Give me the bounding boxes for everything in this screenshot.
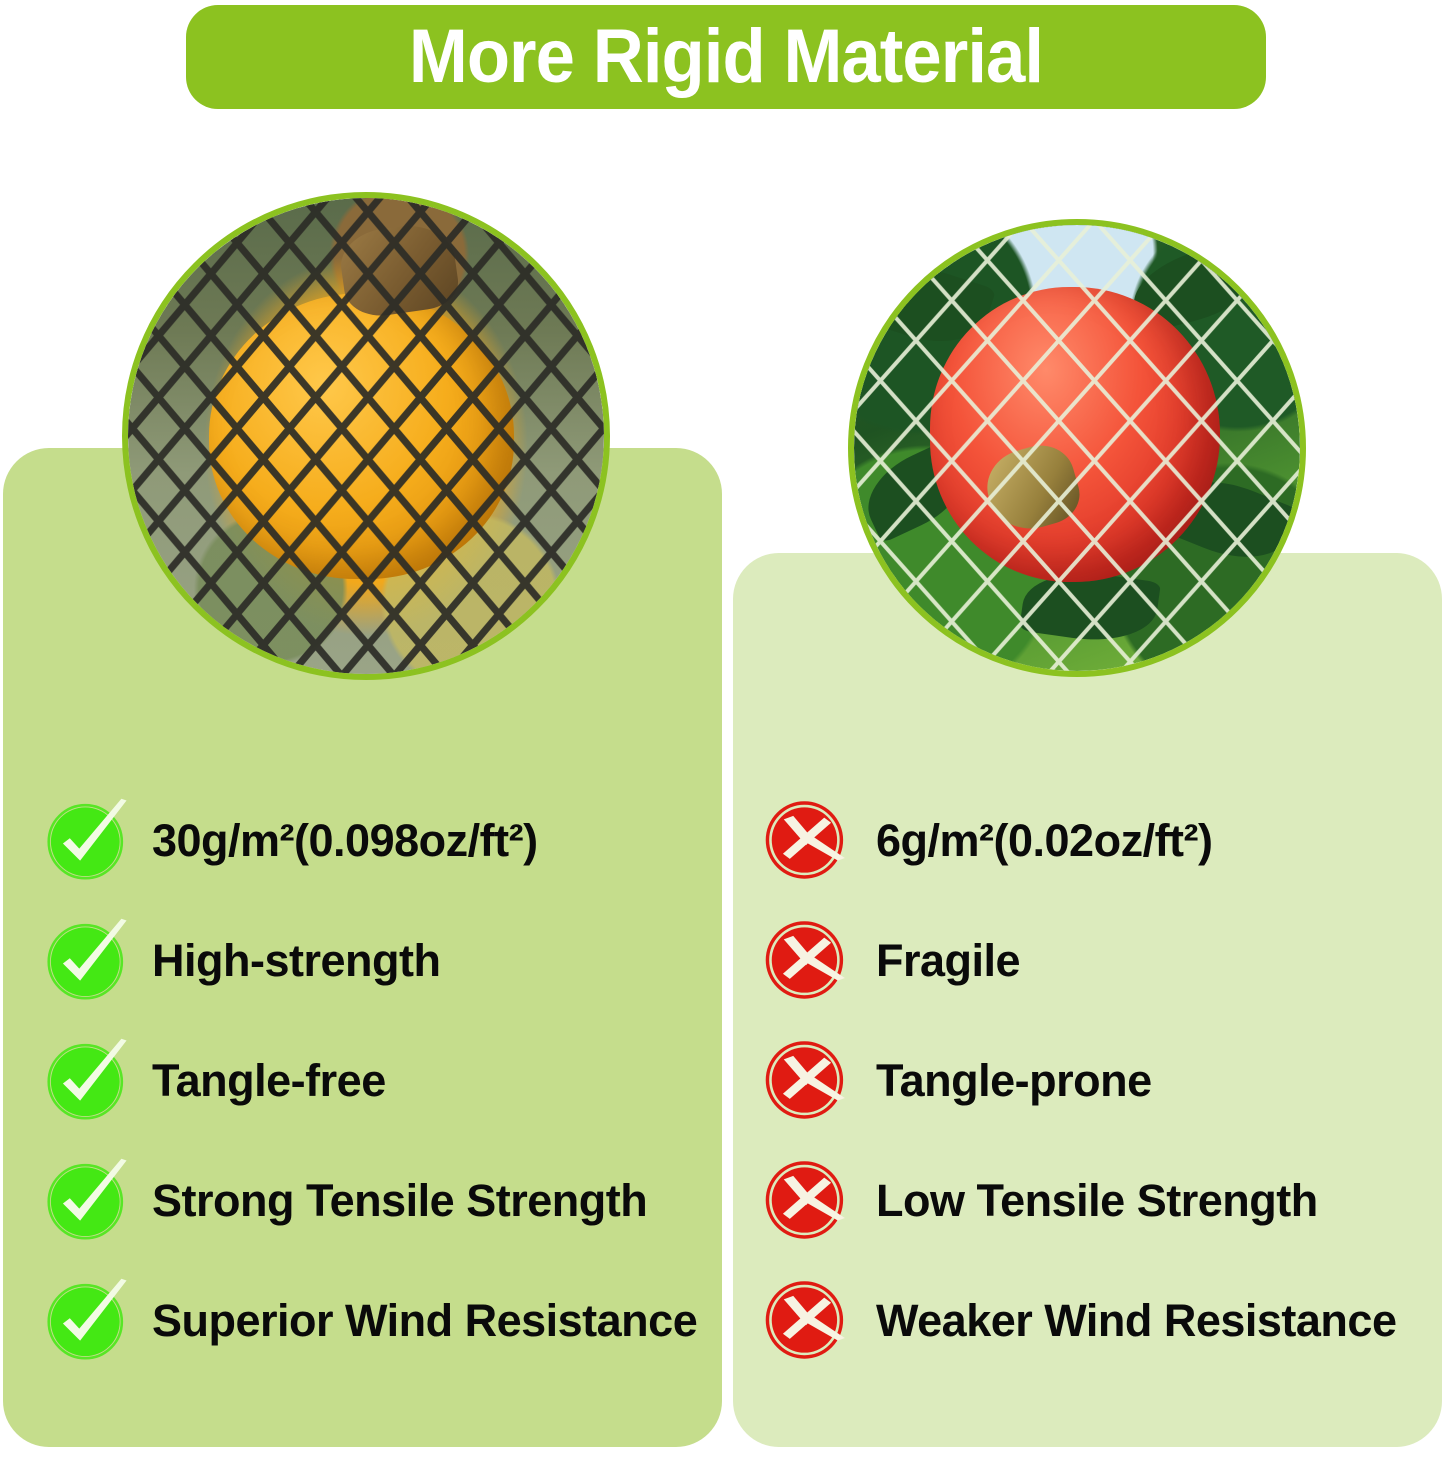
list-item-label: Tangle-free — [152, 1058, 386, 1103]
list-item: Superior Wind Resistance — [44, 1260, 697, 1380]
cross-circle-icon — [764, 1157, 850, 1243]
list-item-label: Tangle-prone — [876, 1058, 1152, 1103]
list-item-label: Low Tensile Strength — [876, 1178, 1318, 1223]
feature-list-flimsy: 6g/m²(0.02oz/ft²) Fragile Tangle-prone — [764, 780, 1396, 1380]
list-item: Tangle-prone — [764, 1020, 1396, 1140]
photo-right-inner — [854, 225, 1300, 671]
list-item: Tangle-free — [44, 1020, 697, 1140]
cross-circle-icon — [764, 1277, 850, 1363]
check-circle-icon — [44, 917, 130, 1003]
list-item-label: Weaker Wind Resistance — [876, 1298, 1396, 1343]
list-item: Fragile — [764, 900, 1396, 1020]
check-circle-icon — [44, 1037, 130, 1123]
check-circle-icon — [44, 797, 130, 883]
list-item-label: 6g/m²(0.02oz/ft²) — [876, 818, 1213, 863]
check-circle-icon — [44, 1277, 130, 1363]
list-item-label: Superior Wind Resistance — [152, 1298, 697, 1343]
cross-circle-icon — [764, 1037, 850, 1123]
list-item-label: Strong Tensile Strength — [152, 1178, 647, 1223]
list-item: 6g/m²(0.02oz/ft²) — [764, 780, 1396, 900]
list-item-label: Fragile — [876, 938, 1020, 983]
cross-circle-icon — [764, 917, 850, 1003]
white-mesh-overlay-icon — [854, 225, 1300, 671]
list-item: Low Tensile Strength — [764, 1140, 1396, 1260]
check-circle-icon — [44, 1157, 130, 1243]
list-item: 30g/m²(0.098oz/ft²) — [44, 780, 697, 900]
header-banner: More Rigid Material — [186, 5, 1266, 109]
page-title: More Rigid Material — [409, 19, 1043, 95]
list-item-label: 30g/m²(0.098oz/ft²) — [152, 818, 538, 863]
photo-left-inner — [128, 198, 604, 674]
list-item: High-strength — [44, 900, 697, 1020]
list-item: Weaker Wind Resistance — [764, 1260, 1396, 1380]
dark-mesh-overlay-icon — [128, 198, 604, 674]
product-photo-rigid-netting — [122, 192, 610, 680]
feature-list-rigid: 30g/m²(0.098oz/ft²) High-strength Tangle… — [44, 780, 697, 1380]
list-item-label: High-strength — [152, 938, 440, 983]
cross-circle-icon — [764, 797, 850, 883]
list-item: Strong Tensile Strength — [44, 1140, 697, 1260]
product-photo-flimsy-netting — [848, 219, 1306, 677]
